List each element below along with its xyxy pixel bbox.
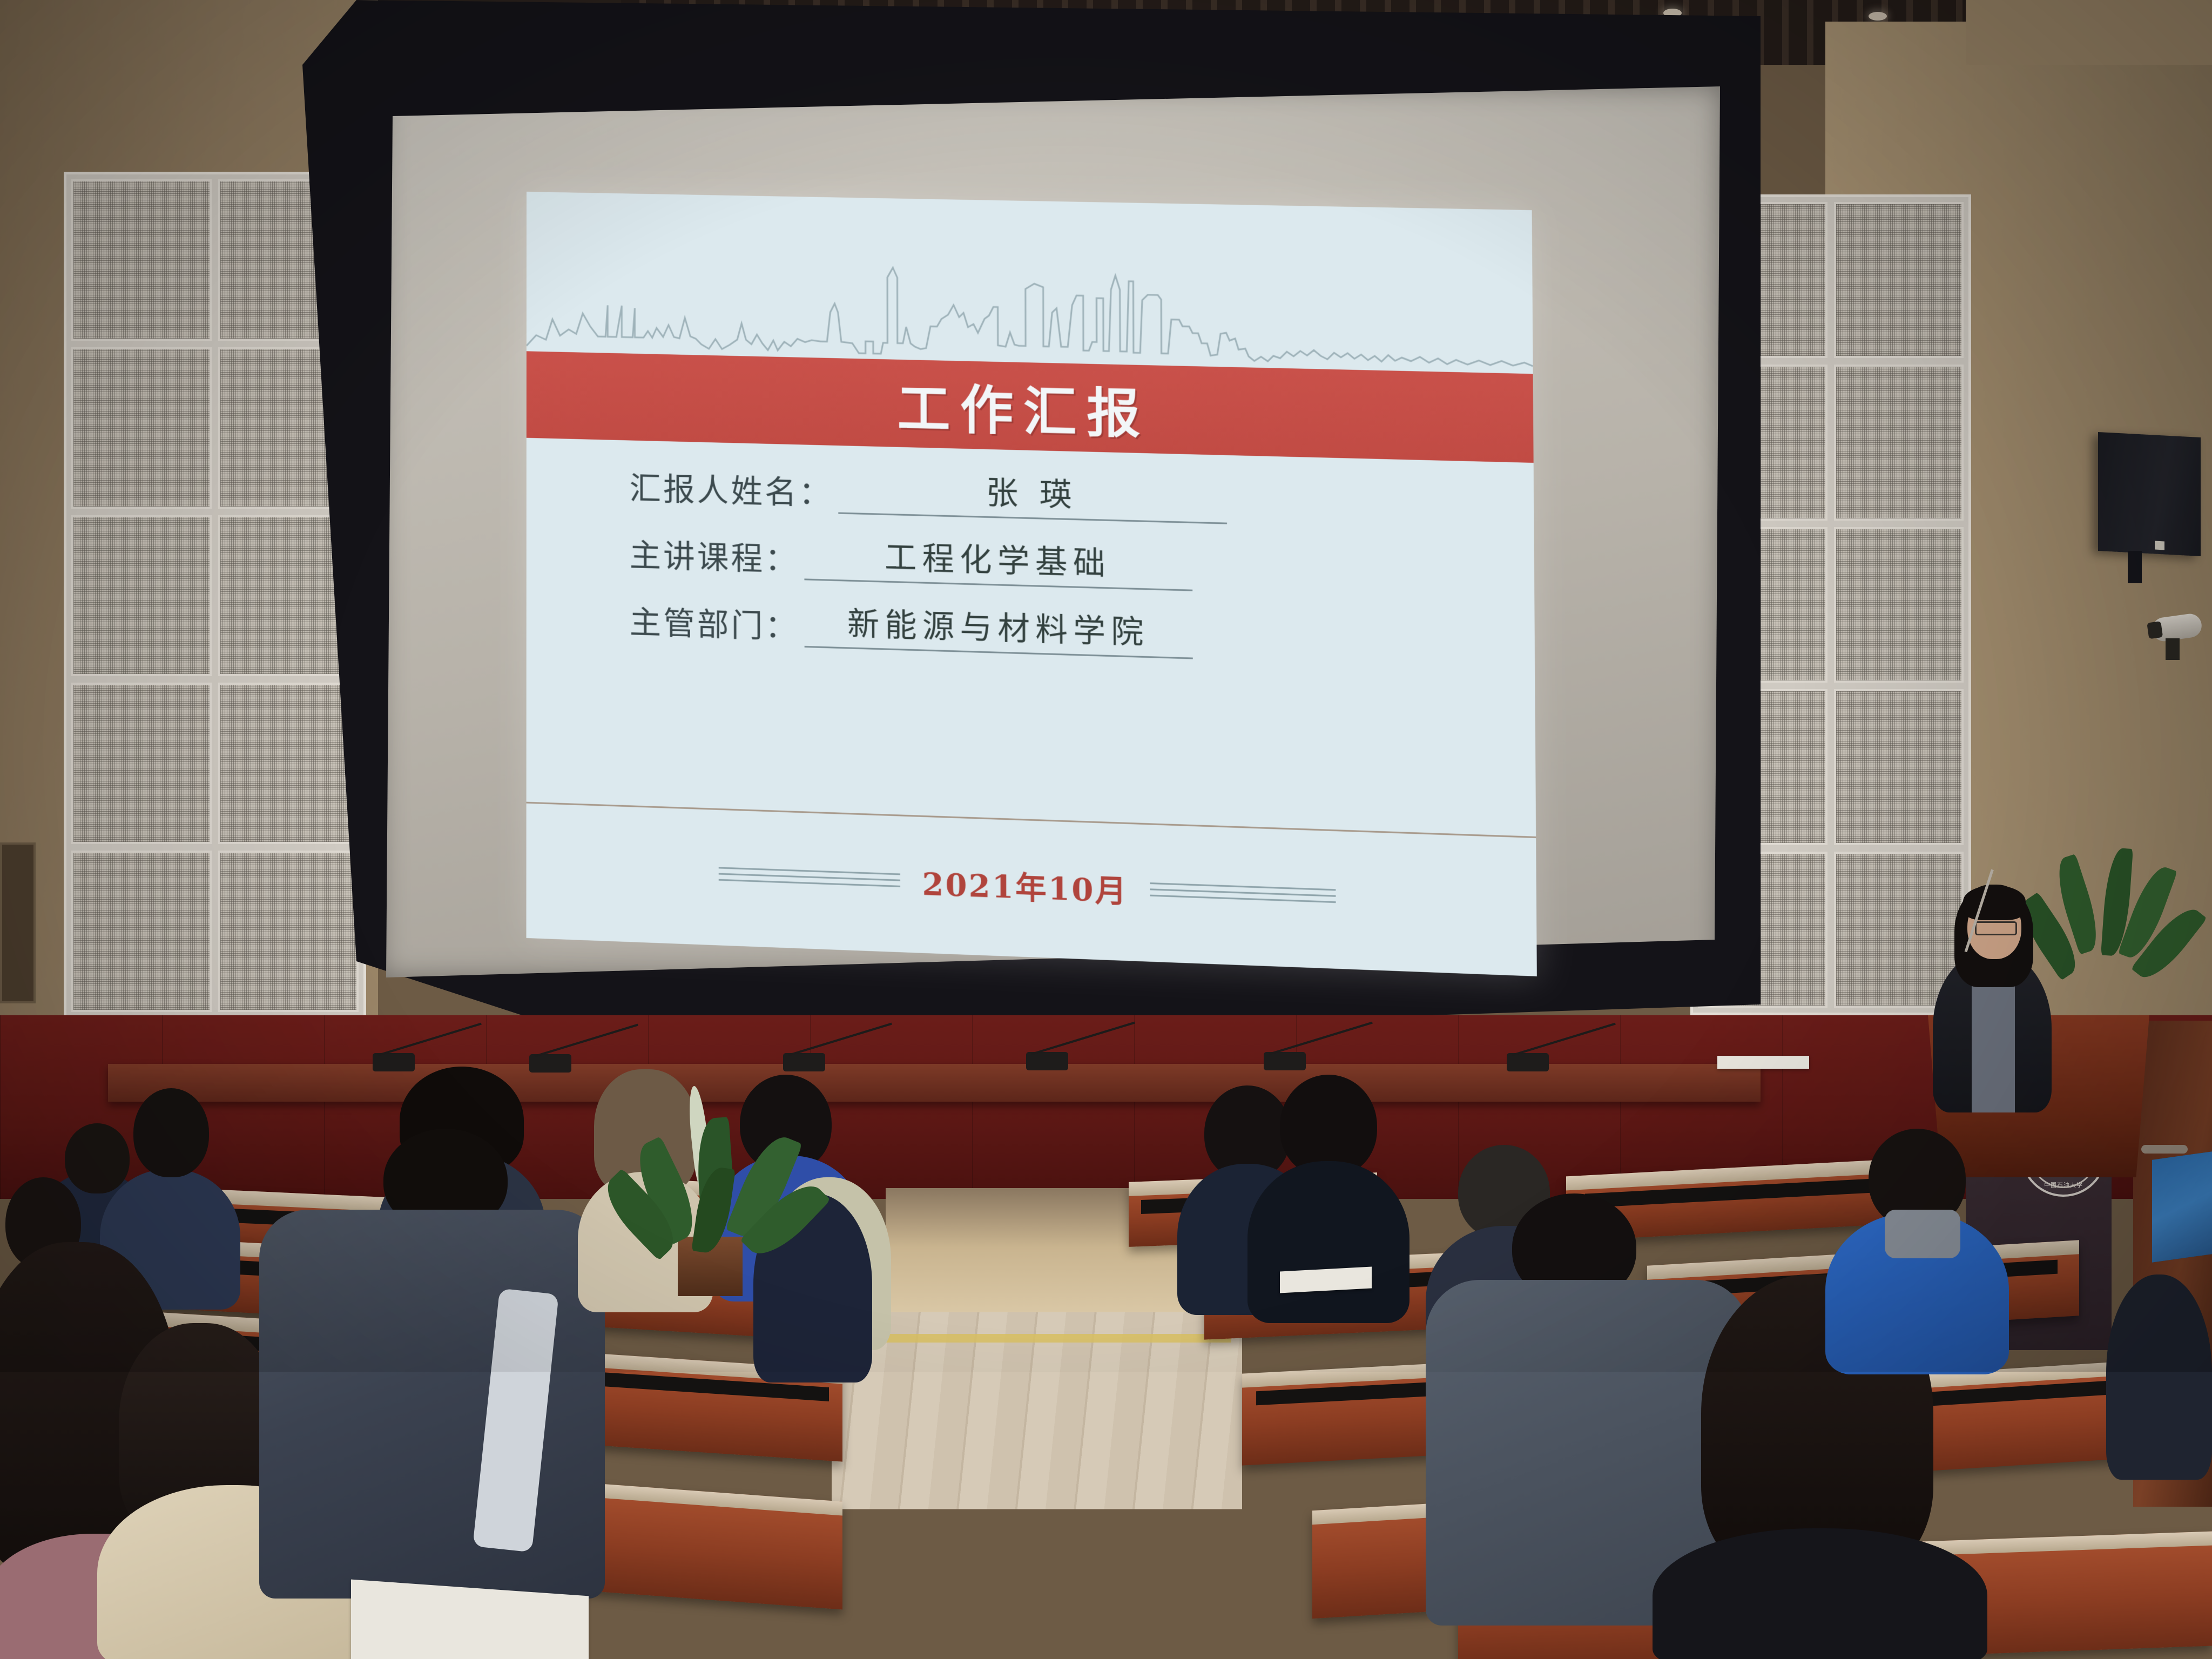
- acoustic-panel-cell: [71, 851, 212, 1012]
- field-label-course: 主讲课程：: [630, 530, 799, 581]
- camera-mount: [2166, 638, 2180, 660]
- field-underline-course: 工程化学基础: [804, 529, 1192, 591]
- acoustic-panel-cell: [1834, 202, 1964, 358]
- potted-plant: [643, 1085, 783, 1247]
- acoustic-panel-cell: [71, 683, 212, 844]
- speaker-bracket: [2128, 551, 2142, 583]
- field-label-department: 主管部门：: [630, 597, 799, 648]
- door-handle-icon: [2141, 1145, 2188, 1154]
- person-body: [2106, 1274, 2212, 1480]
- laptop-bottom-right: [2041, 1545, 2212, 1615]
- field-value-department: 新能源与材料学院: [847, 605, 1149, 651]
- audience-member: [1825, 1129, 2009, 1361]
- presenter-glasses-icon: [1975, 921, 2017, 935]
- slide-skyline-graphic: [527, 192, 1533, 374]
- slide-field-row: 主管部门： 新能源与材料学院: [630, 590, 1535, 669]
- acoustic-panel-cell: [1834, 689, 1964, 845]
- lecture-hall-photo: 工作汇报 汇报人姓名： 张 瑛 主讲课程： 工程化学基础 主管部门： 新能源与材…: [0, 0, 2212, 1659]
- ceiling-light: [1869, 12, 1887, 21]
- acoustic-panel-cell: [71, 179, 212, 341]
- presentation-slide: 工作汇报 汇报人姓名： 张 瑛 主讲课程： 工程化学基础 主管部门： 新能源与材…: [527, 192, 1537, 976]
- person-body: [1247, 1161, 1410, 1323]
- person-head: [133, 1088, 209, 1177]
- footer-rule-right: [1150, 882, 1336, 903]
- jacket-hood: [1885, 1210, 1960, 1258]
- aisle-yellow-strip: [842, 1334, 1231, 1343]
- field-value-presenter: 张 瑛: [986, 474, 1077, 514]
- emblem-bottom-text: 中国石油大学: [2044, 1181, 2083, 1189]
- audience-member: [2106, 1242, 2212, 1469]
- wall-speaker: [2098, 432, 2201, 556]
- field-underline-presenter: 张 瑛: [838, 463, 1227, 524]
- right-wall-upper: [1966, 0, 2212, 65]
- acoustic-panel-cell: [1834, 365, 1964, 521]
- presenter: [1925, 875, 2066, 1102]
- acoustic-panel-cell: [218, 851, 359, 1012]
- field-value-course: 工程化学基础: [885, 538, 1111, 582]
- slide-field-list: 汇报人姓名： 张 瑛 主讲课程： 工程化学基础 主管部门： 新能源与材料学院: [527, 454, 1535, 685]
- acoustic-panel-cell: [218, 683, 359, 844]
- field-label-presenter: 汇报人姓名：: [630, 463, 833, 514]
- center-aisle-floor: [832, 1312, 1242, 1659]
- wall-niche: [0, 842, 36, 1003]
- camera-lens-icon: [2147, 621, 2163, 639]
- field-underline-department: 新能源与材料学院: [805, 597, 1193, 659]
- presenter-fringe: [1963, 886, 2026, 920]
- slide-field-row: 汇报人姓名： 张 瑛: [630, 457, 1534, 532]
- slide-date: 2021年10月: [922, 859, 1128, 912]
- podium-papers: [1717, 1056, 1809, 1069]
- speaker-led-icon: [2155, 541, 2164, 550]
- slide-footer: 2021年10月: [527, 815, 1537, 957]
- acoustic-panel-cell: [71, 515, 212, 677]
- audience-member-foreground: [259, 1129, 605, 1599]
- acoustic-panel-cell: [1834, 527, 1964, 683]
- slide-field-row: 主讲课程： 工程化学基础: [630, 523, 1535, 601]
- person-body: [259, 1210, 605, 1599]
- acoustic-panel-cell: [71, 347, 212, 509]
- slide-title: 工作汇报: [897, 365, 1150, 447]
- footer-rule-left: [718, 867, 900, 888]
